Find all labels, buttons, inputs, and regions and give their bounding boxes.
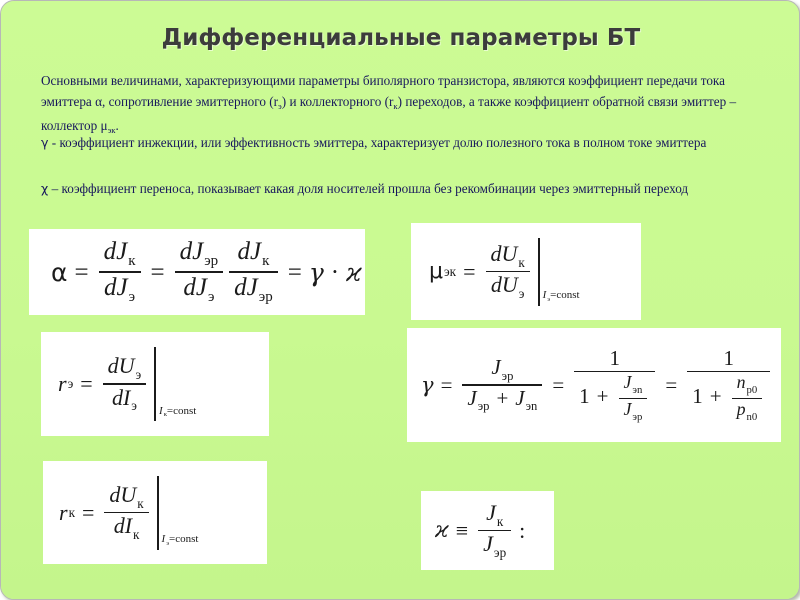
alpha-equals-2: = [151,260,165,285]
mu-ek-formula-card: μэк = dUк dUэ Iэ=const [411,223,641,320]
r-k-den-sub: к [132,528,139,541]
gamma-f2-inner-fraction: JэnJэр [619,374,648,422]
r-e-symbol: r [58,373,67,395]
kappa-identity-sign: ≡ [456,520,468,542]
mu-den-sub: э [518,287,525,300]
kappa-num-j: J [486,500,496,525]
r-k-subscript: к [68,506,75,519]
kappa-trailing-mark: : [514,520,525,542]
kappa-den-j: J [483,531,493,556]
mu-symbol: μ [429,261,443,283]
slide-background: Дифференциальные параметры БТ Основными … [1,1,799,599]
gamma-f3-denominator: 1+np0pn0 [687,373,770,422]
p1-text-part2: ) и коллекторного (r [282,94,394,109]
gamma-f1-num-j: J [491,355,500,379]
gamma-f2-numerator: 1 [605,348,626,370]
r-k-evaluation-bar [157,476,159,550]
gamma-f3-inner-den: pn0 [732,400,763,422]
r-e-denominator: dIэ [107,386,142,413]
r-e-evaluation-bar [154,347,156,421]
alpha-f1-denominator: dJэ [99,274,140,305]
r-k-denominator: dIк [109,514,145,541]
gamma-equals-3: = [665,375,677,396]
gamma-f2-inner-den-j: J [624,399,632,419]
gamma-f3-bar [687,371,770,373]
kappa-den-sub: эр [493,546,506,559]
kappa-num-sub: к [496,515,503,528]
p2-text: - коэффициент инжекции, или эффективност… [48,135,706,150]
alpha-rhs-dot: · [331,260,339,285]
alpha-fraction-3: dJк dJэр [229,239,278,305]
gamma-f1-numerator: Jэр [486,357,518,383]
mu-cond-rest: =const [550,289,579,301]
gamma-f2-inner-num-sub: эn [631,385,642,396]
mu-condition: Iэ=const [543,290,580,305]
r-e-cond-rest: =const [167,405,196,417]
mu-denominator: dUэ [486,273,530,300]
r-e-num-du: dU [108,353,135,378]
r-k-symbol: r [59,502,68,524]
p1-text-part4: . [116,118,119,133]
gamma-f3-inner-den-sub: n0 [745,412,757,423]
alpha-f1-num-sub: к [127,254,135,269]
slide-canvas: Дифференциальные параметры БТ Основными … [0,0,800,600]
r-k-fraction: dUк dIк [104,484,148,541]
paragraph-main-quantities: Основными величинами, характеризующими п… [41,71,753,140]
mu-evaluation-bar [538,238,540,306]
alpha-f3-num-sub: к [261,254,269,269]
r-k-den-di: dI [114,513,132,538]
alpha-f2-num-dj: dJ [180,238,204,265]
paragraph-chi-definition: χ – коэффициент переноса, показывает как… [41,179,753,200]
gamma-f2-den-plus: + [597,384,609,408]
gamma-f1-den-j2-sub: эn [525,400,538,413]
r-k-condition: Iэ=const [162,534,199,549]
alpha-f3-num-dj: dJ [238,238,262,265]
gamma-f1-den-plus: + [496,386,508,410]
kappa-formula-expression: ϰ ≡ Jк Jэр : [435,502,525,559]
alpha-fraction-1: dJк dJэ [99,239,141,305]
gamma-f2-inner-den: Jэр [619,400,648,422]
gamma-f2-inner-num-j: J [624,372,632,392]
alpha-f3-bar [229,271,278,273]
r-k-numerator: dUк [104,484,148,511]
kappa-symbol: ϰ [435,520,449,542]
mu-ek-formula-expression: μэк = dUк dUэ Iэ=const [429,238,580,306]
alpha-f2-bar [175,271,224,273]
gamma-symbol: γ [421,375,434,396]
kappa-denominator: Jэр [478,532,511,559]
r-k-equals: = [82,502,94,524]
kappa-fraction: Jк Jэр [478,502,511,559]
gamma-f2-inner-num: Jэn [619,374,648,396]
mu-subscript: эк [443,265,456,278]
r-k-num-du: dU [109,482,136,507]
alpha-f2-den-dj: dJ [183,274,207,301]
gamma-f3-den-plus: + [710,384,722,408]
r-e-formula-expression: rэ = dUэ dIэ Iк=const [58,347,196,421]
alpha-f2-num-sub: эр [203,254,218,269]
gamma-f1-denominator: Jэр+Jэn [462,387,542,413]
r-k-formula-card: rк = dUк dIк Iэ=const [43,461,267,564]
r-e-fraction: dUэ dIэ [103,355,147,412]
alpha-f2-numerator: dJэр [175,239,224,270]
r-e-condition: Iк=const [159,406,196,421]
kappa-numerator: Jк [481,502,508,529]
alpha-formula-expression: α = dJк dJэ = dJэр dJэ dJк dJэр [51,239,362,305]
r-e-formula-card: rэ = dUэ dIэ Iк=const [41,332,269,436]
r-e-subscript: э [67,377,74,390]
alpha-f1-bar [99,271,141,273]
mu-equals: = [463,261,475,283]
gamma-equals-1: = [441,375,453,396]
alpha-f3-denominator: dJэр [229,274,278,305]
alpha-f1-numerator: dJк [99,239,141,270]
kappa-formula-card: ϰ ≡ Jк Jэр : [421,491,554,570]
alpha-f3-den-dj: dJ [234,274,258,301]
mu-num-du: dU [491,241,518,266]
alpha-formula-card: α = dJк dJэ = dJэр dJэ dJк dJэр [29,229,365,315]
alpha-rhs-kappa: ϰ [346,260,362,285]
r-e-numerator: dUэ [103,355,147,382]
gamma-f1-den-j2: J [515,386,524,410]
paragraph-gamma-definition: γ - коэффициент инжекции, или эффективно… [41,133,753,154]
mu-num-sub: к [517,256,524,269]
gamma-f2-den-one: 1 [579,384,590,408]
gamma-f3-inner-fraction: np0pn0 [732,374,763,422]
r-k-num-sub: к [136,497,143,510]
alpha-equals-1: = [74,260,88,285]
gamma-f2-bar [574,371,655,373]
alpha-fraction-2: dJэр dJэ [175,239,224,305]
r-e-den-di: dI [112,385,130,410]
alpha-f3-den-sub: эр [258,290,273,305]
gamma-fraction-2: 1 1+JэnJэр [574,348,655,423]
gamma-f1-den-j1-sub: эр [477,400,490,413]
p3-text: – коэффициент переноса, показывает какая… [48,181,688,196]
r-e-num-sub: э [135,368,142,381]
gamma-formula-card: γ = Jэр Jэр+Jэn = 1 1+JэnJэр = 1 1+np0 [407,328,781,442]
gamma-f2-inner-den-sub: эр [631,412,642,423]
gamma-f3-den-one: 1 [692,384,703,408]
gamma-f3-inner-num-n: n [737,372,746,392]
gamma-f2-denominator: 1+JэnJэр [574,373,655,422]
gamma-fraction-3: 1 1+np0pn0 [687,348,770,423]
gamma-equals-2: = [552,375,564,396]
mu-numerator: dUк [486,243,530,270]
alpha-f2-denominator: dJэ [178,274,219,305]
r-e-den-sub: э [130,399,137,412]
alpha-equals-3: = [288,260,302,285]
gamma-f3-numerator: 1 [718,348,739,370]
gamma-fraction-1: Jэр Jэр+Jэn [462,357,542,412]
gamma-f1-den-j1: J [467,386,476,410]
page-title: Дифференциальные параметры БТ [41,25,761,51]
alpha-rhs-gamma: γ [309,260,324,285]
mu-den-du: dU [491,272,518,297]
mu-fraction: dUк dUэ [486,243,530,300]
r-k-cond-rest: =const [169,533,198,545]
alpha-f1-den-dj: dJ [104,274,128,301]
gamma-formula-expression: γ = Jэр Jэр+Jэn = 1 1+JэnJэр = 1 1+np0 [421,348,773,423]
alpha-symbol: α [51,260,67,285]
r-k-formula-expression: rк = dUк dIк Iэ=const [59,476,198,550]
gamma-f3-inner-num-sub: p0 [745,385,757,396]
alpha-f1-den-sub: э [128,290,135,305]
alpha-f1-num-dj: dJ [104,238,128,265]
gamma-f1-num-sub: эр [501,370,514,383]
gamma-f3-inner-den-p: p [737,399,746,419]
alpha-f3-numerator: dJк [233,239,275,270]
gamma-f3-inner-num: np0 [732,374,763,396]
r-e-equals: = [80,373,92,395]
alpha-f2-den-sub: э [207,290,214,305]
